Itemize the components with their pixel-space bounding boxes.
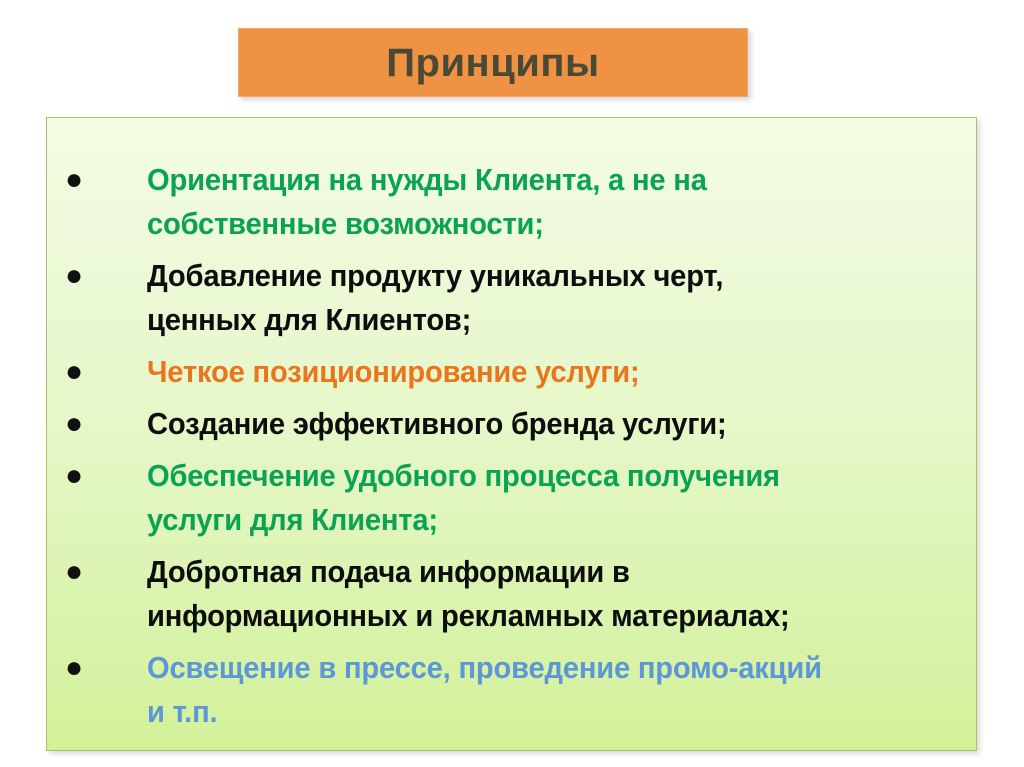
bullet-dot-icon: ●: [47, 550, 147, 594]
bullet-dot-icon: ●: [47, 402, 147, 446]
content-panel: ● Ориентация на нужды Клиента, а не на с…: [46, 117, 977, 751]
list-item-label: Четкое позиционирование услуги;: [147, 350, 926, 394]
bullet-dot-icon: ●: [47, 158, 147, 202]
bullet-dot-icon: ●: [47, 350, 147, 394]
list-item: ● Ориентация на нужды Клиента, а не на с…: [47, 158, 976, 246]
list-item-label: Добавление продукту уникальных черт, цен…: [147, 254, 926, 342]
list-item: ● Добротная подача информации в информац…: [47, 550, 976, 638]
list-item: ● Обеспечение удобного процесса получени…: [47, 454, 976, 542]
list-item-label: Обеспечение удобного процесса получения …: [147, 454, 926, 542]
principles-list: ● Ориентация на нужды Клиента, а не на с…: [47, 118, 976, 734]
bullet-dot-icon: ●: [47, 254, 147, 298]
list-item: ● Четкое позиционирование услуги;: [47, 350, 976, 394]
list-item-label: Освещение в прессе, проведение промо-акц…: [147, 646, 926, 734]
bullet-dot-icon: ●: [47, 454, 147, 498]
list-item: ● Создание эффективного бренда услуги;: [47, 402, 976, 446]
slide-title-banner: Принципы: [238, 28, 748, 97]
list-item: ● Добавление продукту уникальных черт, ц…: [47, 254, 976, 342]
slide-canvas: Принципы ● Ориентация на нужды Клиента, …: [0, 0, 1024, 767]
list-item-label: Добротная подача информации в информацио…: [147, 550, 926, 638]
list-item-label: Ориентация на нужды Клиента, а не на соб…: [147, 158, 926, 246]
page-title: Принципы: [386, 43, 599, 83]
list-item-label: Создание эффективного бренда услуги;: [147, 402, 926, 446]
bullet-dot-icon: ●: [47, 646, 147, 690]
list-item: ● Освещение в прессе, проведение промо-а…: [47, 646, 976, 734]
